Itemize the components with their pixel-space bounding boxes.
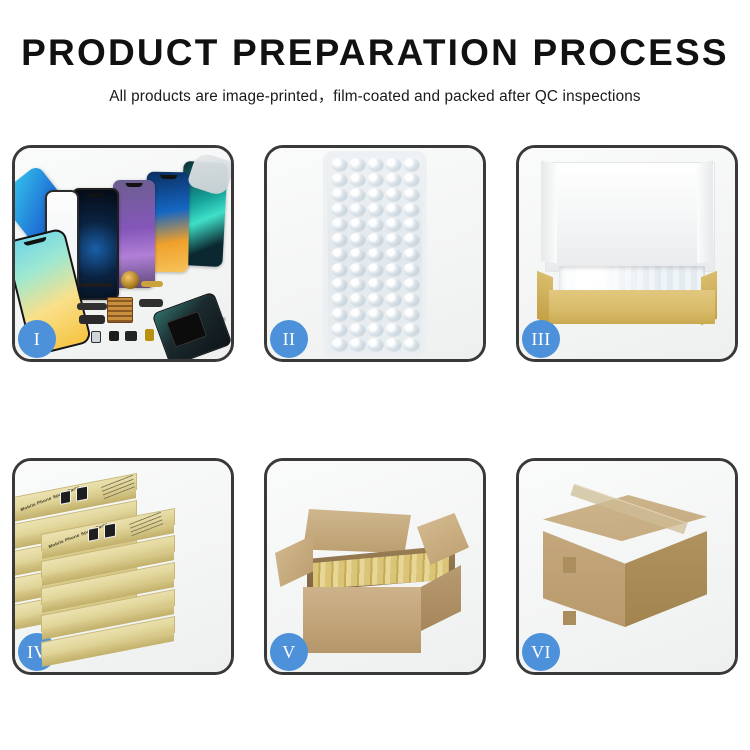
bubble-cell [367,323,384,337]
box-front-icon [549,290,715,324]
bubble-cell [385,173,402,187]
sim-tray-icon [91,331,101,343]
bubble-wrap-icon [328,156,422,352]
carton-flap-back-icon [303,509,411,553]
process-step-5: V [264,458,486,675]
bubble-cell [349,308,366,322]
vibrator-icon [145,329,154,341]
bubble-cell [385,308,402,322]
bubble-cell [349,173,366,187]
bubble-cell [331,188,348,202]
bubble-cell [385,248,402,262]
box-phone-graphic-icon [76,485,88,501]
bubble-cell [403,278,420,292]
step-badge: III [522,320,560,358]
bubble-cell [385,233,402,247]
bubble-cell [331,248,348,262]
bubble-cell [403,308,420,322]
step-badge: VI [522,633,560,671]
bubble-cell [403,188,420,202]
bubble-cell [331,308,348,322]
carton-tab-icon [563,611,576,625]
step-badge: II [270,320,308,358]
box-phone-graphic-icon [60,490,71,505]
connector-grid-icon [107,297,133,323]
bubble-cell [349,323,366,337]
process-step-2: II [264,145,486,362]
bubble-cell [367,233,384,247]
bubble-cell [367,338,384,352]
carton-tab-icon [563,557,576,573]
bubble-cell [403,248,420,262]
bubble-cell [403,338,420,352]
process-step-3: III [516,145,738,362]
bubble-cell [367,278,384,292]
bubble-cell [403,323,420,337]
bubble-cell [403,218,420,232]
flex-cable-icon [77,303,107,310]
box-phone-graphic-icon [104,522,116,538]
step-4-image: Mobile Phone Spare PartsMobile Phone Spa… [15,461,231,672]
camera-module-icon [121,271,139,289]
bubble-cell [367,308,384,322]
bubble-cell [403,173,420,187]
bubble-cell [385,158,402,172]
bubble-cell [385,293,402,307]
process-step-4: Mobile Phone Spare PartsMobile Phone Spa… [12,458,234,675]
page-header: PRODUCT PREPARATION PROCESS All products… [0,0,750,106]
bubble-cell [349,203,366,217]
bubble-cell [403,233,420,247]
bubble-cell [349,338,366,352]
bubble-cell [385,188,402,202]
earpiece-mesh-icon [79,283,113,287]
flex-cable-icon [141,281,163,287]
bubble-cell [367,158,384,172]
ic-chip-icon [109,331,119,341]
bubble-cell [385,263,402,277]
box-side-edge [42,631,174,667]
bubble-cell [367,218,384,232]
box-flap-right-icon [697,161,713,264]
bubble-cell [349,263,366,277]
bubble-cell [349,293,366,307]
bubble-cell [331,233,348,247]
speaker-icon [125,331,137,341]
bubble-cell [331,158,348,172]
carton-side-icon [625,531,707,627]
bubble-cell [349,248,366,262]
bubble-cell [385,278,402,292]
box-lid-icon [545,162,715,272]
bubble-cell [385,203,402,217]
process-step-1: I [12,145,234,362]
carton-front-icon [543,531,625,627]
bubble-cell [331,293,348,307]
bubble-cell [349,158,366,172]
bubble-cell [349,188,366,202]
bubble-cell [331,263,348,277]
bubble-cell [367,188,384,202]
process-grid: I II III Mobile Phone Spare PartsMobile … [12,145,738,675]
bubble-cell [331,173,348,187]
bubble-cell [349,278,366,292]
stacked-boxes-scene: Mobile Phone Spare PartsMobile Phone Spa… [15,461,231,672]
bubble-cell [403,158,420,172]
bubble-cell [403,203,420,217]
process-step-6: VI [516,458,738,675]
page-title: PRODUCT PREPARATION PROCESS [0,34,750,73]
bubble-cell [349,233,366,247]
bubble-cell [367,248,384,262]
bubble-cell [367,263,384,277]
bubble-cell [385,323,402,337]
flex-cable-icon [139,299,163,307]
step-badge: I [18,320,56,358]
bubble-cell [403,263,420,277]
bubble-cell [367,173,384,187]
flex-cable-icon [79,315,105,324]
bubble-cell [331,203,348,217]
bubble-cell [385,218,402,232]
bubble-cell [331,323,348,337]
bubble-cell [349,218,366,232]
bubble-cell [385,338,402,352]
bubble-cell [331,338,348,352]
bubble-cell [367,293,384,307]
bubble-wrapped-contents-icon [559,266,705,292]
bubble-cell [403,293,420,307]
bubble-cell [331,278,348,292]
box-phone-graphic-icon [88,527,99,542]
step-badge: V [270,633,308,671]
page-subtitle: All products are image-printed，film-coat… [0,84,750,106]
carton-front-icon [303,587,421,653]
bubble-cell [367,203,384,217]
bubble-cell [331,218,348,232]
box-flap-left-icon [541,161,557,264]
